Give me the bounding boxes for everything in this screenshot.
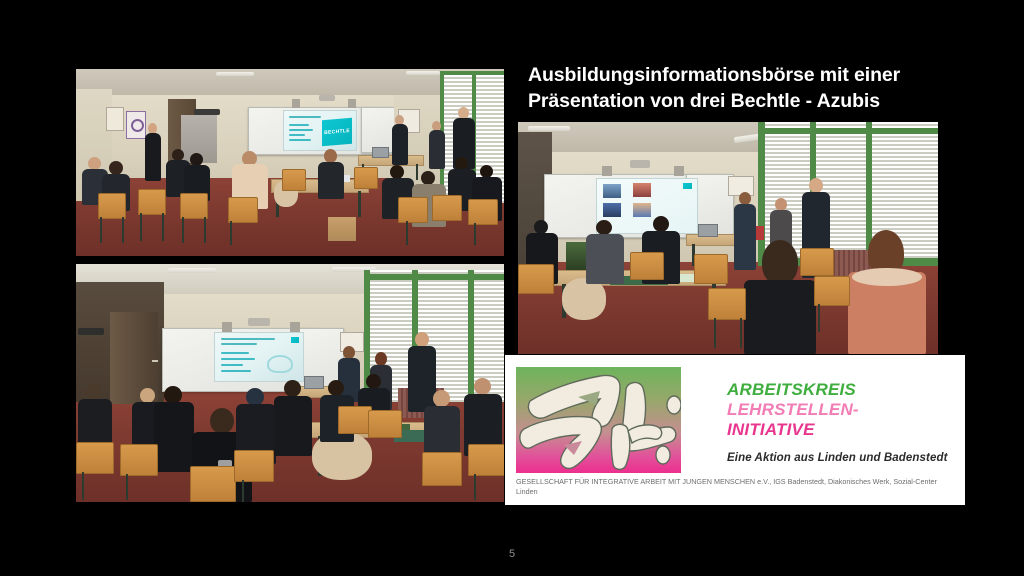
person-head: [375, 352, 387, 366]
person-head: [284, 380, 301, 397]
chair: [76, 442, 114, 474]
chair: [398, 197, 428, 223]
slide-body-line: [289, 124, 309, 126]
chair-leg: [126, 474, 128, 500]
slide-heading-line: [221, 343, 257, 345]
bechtle-logo: [291, 337, 299, 343]
chair-leg: [474, 223, 476, 245]
person-body: [154, 402, 194, 472]
projector: [248, 318, 270, 326]
person-head: [86, 384, 102, 400]
chair: [228, 197, 258, 223]
chair: [630, 252, 664, 280]
door-handle: [152, 360, 158, 362]
slide-body-line: [221, 358, 255, 360]
ceiling-light: [168, 268, 216, 273]
slide-heading-line: [289, 116, 321, 118]
seated-student: [318, 149, 344, 199]
logo-fineprint: GESELLSCHAFT FÜR INTEGRATIVE ARBEIT MIT …: [516, 477, 956, 497]
logo-line-lehrstellen: LEHRSTELLEN-: [727, 400, 948, 420]
chair: [432, 195, 462, 221]
bechtle-logo-text: BECHTLE: [324, 128, 350, 136]
chair: [354, 167, 378, 189]
logo-line-arbeitskreis: ARBEITSKREIS: [727, 380, 948, 400]
chair-leg: [474, 474, 476, 500]
bechtle-logo: BECHTLE: [322, 118, 352, 147]
person-body: [392, 124, 408, 165]
laptop: [698, 224, 718, 237]
window-frame: [364, 274, 504, 280]
chair-leg: [818, 304, 820, 332]
person-head: [328, 380, 344, 396]
poster: [106, 107, 124, 131]
person-head: [415, 332, 429, 347]
ali-logo-wordmark: ARBEITSKREIS LEHRSTELLEN- INITIATIVE Ein…: [727, 380, 948, 464]
page-number: 5: [0, 548, 1024, 560]
speaker: [602, 166, 612, 176]
slide-title: Ausbildungsinformationsbörse mit einer P…: [528, 62, 998, 114]
ceiling-light: [216, 72, 254, 76]
poster-circle-inner: [131, 119, 144, 132]
photo-scene: BECHTLE: [76, 69, 504, 256]
standing-teacher: [144, 123, 162, 181]
projector: [319, 95, 335, 101]
speaker: [292, 99, 300, 108]
speaker: [222, 322, 232, 332]
person-body: [274, 396, 312, 456]
presentation-screen: [214, 332, 304, 382]
table-leg: [358, 191, 361, 217]
chair-leg: [204, 217, 206, 243]
ceiling-light: [528, 126, 570, 131]
person-body: [318, 162, 344, 199]
person-head: [324, 149, 337, 163]
person-head: [596, 220, 612, 235]
ali-logo-mark: [516, 367, 681, 473]
wall-vent: [194, 109, 220, 115]
chair: [234, 450, 274, 482]
photo-classroom-presenters: [518, 122, 938, 354]
photo-classroom-wide: [76, 264, 504, 502]
chair-leg: [122, 217, 124, 243]
ali-logo-panel: ARBEITSKREIS LEHRSTELLEN- INITIATIVE Ein…: [505, 355, 965, 505]
chair-leg: [100, 217, 102, 243]
speaker: [674, 166, 684, 176]
presentation-screen: BECHTLE: [283, 110, 357, 151]
seated-student: [586, 220, 624, 284]
chair-leg: [230, 221, 232, 245]
slide-heading-line: [221, 338, 275, 340]
chair: [98, 193, 126, 219]
chair-leg: [82, 472, 84, 500]
chair: [422, 452, 462, 486]
chair: [518, 264, 554, 294]
chair-leg: [714, 318, 716, 348]
slide-canvas: Ausbildungsinformationsbörse mit einer P…: [0, 0, 1024, 576]
slide-graphic: [267, 355, 293, 373]
chair-leg: [740, 318, 742, 348]
chair: [468, 199, 498, 225]
chair: [138, 189, 166, 215]
person-head: [653, 216, 669, 232]
slide-body-line: [289, 134, 305, 136]
ceiling-light: [406, 71, 440, 75]
window-frame: [758, 128, 938, 134]
slide-body-line: [221, 370, 251, 372]
chair: [282, 169, 306, 191]
seated-student-foreground: [848, 230, 926, 354]
person-head: [140, 388, 155, 403]
chair: [338, 406, 372, 434]
slide-body-line: [289, 129, 313, 131]
person-body: [429, 130, 445, 169]
presenter: [391, 115, 409, 165]
logo-tagline: Eine Aktion aus Linden und Badenstedt: [727, 452, 948, 464]
person-head: [762, 240, 798, 284]
slide-body-line: [221, 352, 249, 354]
cardboard-box: [328, 217, 356, 241]
person-body: [586, 234, 624, 284]
chair: [120, 444, 158, 476]
chair-leg: [242, 480, 244, 502]
photo-scene: [76, 264, 504, 502]
ali-letters-svg: [516, 367, 681, 473]
person-head: [433, 390, 450, 407]
chair: [190, 466, 236, 502]
speaker: [348, 99, 356, 108]
person-head: [534, 220, 548, 234]
slide-photo: [633, 183, 651, 197]
person-body: [744, 280, 816, 354]
slide-photo: [633, 203, 651, 217]
person-head: [421, 171, 435, 185]
slide-photo: [603, 184, 621, 198]
person-head: [210, 408, 234, 434]
wall-vent: [78, 328, 104, 335]
laptop: [372, 147, 389, 158]
seated-student: [154, 386, 194, 472]
photo-scene: [518, 122, 938, 354]
person-head: [809, 178, 823, 193]
person-head: [109, 161, 123, 175]
logo-line-initiative: INITIATIVE: [727, 420, 948, 440]
table-item-bag: [562, 278, 606, 320]
chair-leg: [182, 217, 184, 243]
bechtle-logo: [683, 183, 692, 189]
chair: [800, 248, 834, 276]
speaker: [290, 322, 300, 332]
chair: [814, 276, 850, 306]
chair-leg: [140, 213, 142, 241]
presenter: [428, 121, 446, 169]
chair: [468, 444, 504, 476]
chair: [368, 410, 402, 438]
photo-classroom-bechtle-slide: BECHTLE: [76, 69, 504, 256]
person-head: [366, 374, 381, 389]
chair: [180, 193, 208, 219]
chair: [708, 288, 746, 320]
chair-leg: [406, 221, 408, 245]
window-frame: [440, 71, 504, 75]
person-body: [145, 133, 161, 181]
slide-body-line: [289, 139, 311, 141]
person-head: [474, 378, 491, 395]
fur-collar: [852, 268, 922, 286]
seated-student: [274, 380, 312, 456]
chair-leg: [162, 213, 164, 241]
chair: [694, 254, 728, 284]
projector: [630, 160, 650, 168]
slide-photo: [603, 203, 621, 217]
slide-body-line: [221, 364, 243, 366]
person-head: [390, 165, 404, 179]
